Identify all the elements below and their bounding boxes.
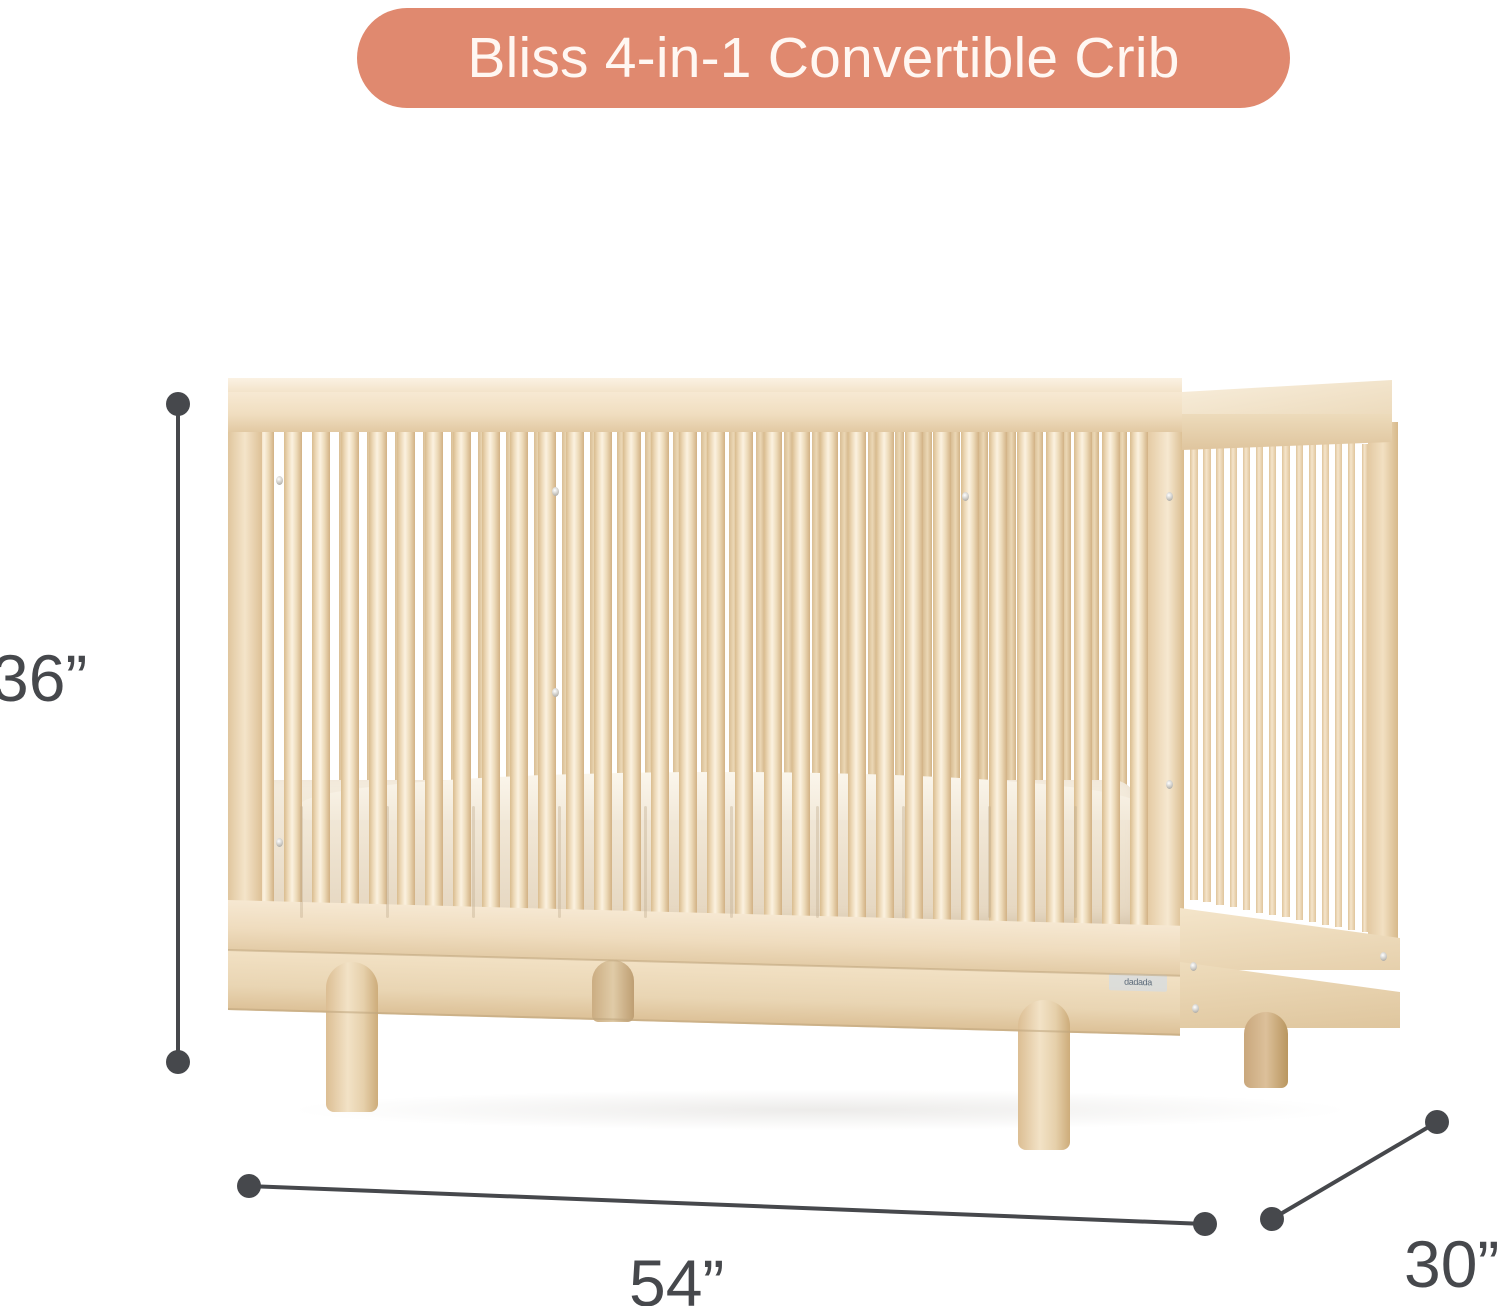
right-panel-slat bbox=[1256, 436, 1263, 913]
right-panel-slat bbox=[1230, 433, 1238, 907]
crib-leg-front-right bbox=[1018, 1000, 1070, 1150]
brand-logo-text: dadada bbox=[1124, 978, 1152, 988]
front-slat bbox=[538, 420, 556, 929]
front-slat bbox=[1046, 420, 1064, 945]
front-slat bbox=[453, 420, 471, 926]
right-panel-slat bbox=[1282, 438, 1289, 918]
front-slat bbox=[679, 420, 697, 934]
assembly-screw bbox=[1166, 780, 1173, 789]
front-slat bbox=[566, 420, 584, 930]
front-slat bbox=[341, 420, 359, 923]
front-slat bbox=[651, 420, 669, 933]
crib-leg-back-right bbox=[1244, 1012, 1288, 1088]
dimension-label-depth: 30” bbox=[1404, 1231, 1499, 1297]
front-slat bbox=[1102, 420, 1120, 947]
mattress-tuft bbox=[472, 806, 475, 918]
assembly-screw bbox=[552, 487, 559, 496]
front-slat bbox=[482, 420, 500, 927]
front-slat bbox=[1017, 420, 1035, 944]
front-slat bbox=[848, 420, 866, 939]
right-panel-slat bbox=[1190, 430, 1198, 900]
front-slat bbox=[989, 420, 1007, 943]
front-slat bbox=[425, 420, 443, 925]
crib-leg-front-left bbox=[326, 962, 378, 1112]
right-panel-slat bbox=[1348, 443, 1355, 930]
assembly-screw bbox=[1380, 952, 1387, 961]
right-panel-slat bbox=[1335, 442, 1342, 927]
corner-post-front-right bbox=[1148, 400, 1184, 960]
mattress-tuft bbox=[644, 806, 647, 918]
crib-leg-back-left bbox=[592, 960, 634, 1022]
right-panel-slat bbox=[1296, 439, 1303, 920]
assembly-screw bbox=[276, 476, 283, 485]
front-slat bbox=[594, 420, 612, 931]
right-panel-slat bbox=[1309, 440, 1316, 923]
dimension-label-width: 54” bbox=[629, 1250, 724, 1306]
assembly-screw bbox=[1190, 962, 1197, 971]
mattress-tuft bbox=[902, 806, 905, 918]
front-slat bbox=[735, 420, 753, 935]
crib-illustration: dadada bbox=[0, 0, 1500, 1306]
top-rail-front bbox=[228, 392, 1182, 432]
front-slat bbox=[905, 420, 923, 941]
front-slat bbox=[820, 420, 838, 938]
front-slat bbox=[792, 420, 810, 937]
corner-post-front-left bbox=[228, 392, 262, 937]
mattress-tuft bbox=[386, 806, 389, 918]
front-slat bbox=[876, 420, 894, 940]
front-slat bbox=[1130, 420, 1148, 948]
front-panel-slats bbox=[256, 420, 1176, 920]
product-dimension-diagram: Bliss 4-in-1 Convertible Crib dadada bbox=[0, 0, 1500, 1306]
dimension-label-height: 36” bbox=[0, 645, 87, 711]
mattress-tuft bbox=[988, 806, 991, 918]
base-skirt-right bbox=[1180, 962, 1400, 1028]
front-slat bbox=[933, 420, 951, 942]
right-panel-slat bbox=[1243, 434, 1251, 910]
front-slat bbox=[369, 420, 387, 924]
front-slat bbox=[312, 420, 330, 922]
front-slat bbox=[510, 420, 528, 928]
mattress-tuft bbox=[300, 806, 303, 918]
right-panel-slat bbox=[1203, 431, 1211, 902]
assembly-screw bbox=[552, 688, 559, 697]
mattress-tuft bbox=[816, 806, 819, 918]
front-slat bbox=[764, 420, 782, 936]
assembly-screw bbox=[1166, 492, 1173, 501]
front-slat bbox=[623, 420, 641, 932]
assembly-screw bbox=[962, 492, 969, 501]
assembly-screw bbox=[276, 838, 283, 847]
mattress-tuft bbox=[730, 806, 733, 918]
right-panel-slat bbox=[1269, 437, 1276, 915]
mattress-tuft bbox=[558, 806, 561, 918]
right-panel-slat bbox=[1322, 441, 1329, 925]
front-slat bbox=[707, 420, 725, 934]
assembly-screw bbox=[1192, 1004, 1199, 1013]
floor-shadow bbox=[300, 1090, 1340, 1130]
mattress-tuft bbox=[1074, 806, 1077, 918]
corner-post-back-right bbox=[1368, 422, 1398, 952]
right-panel-slat bbox=[1216, 432, 1224, 905]
front-slat bbox=[397, 420, 415, 925]
